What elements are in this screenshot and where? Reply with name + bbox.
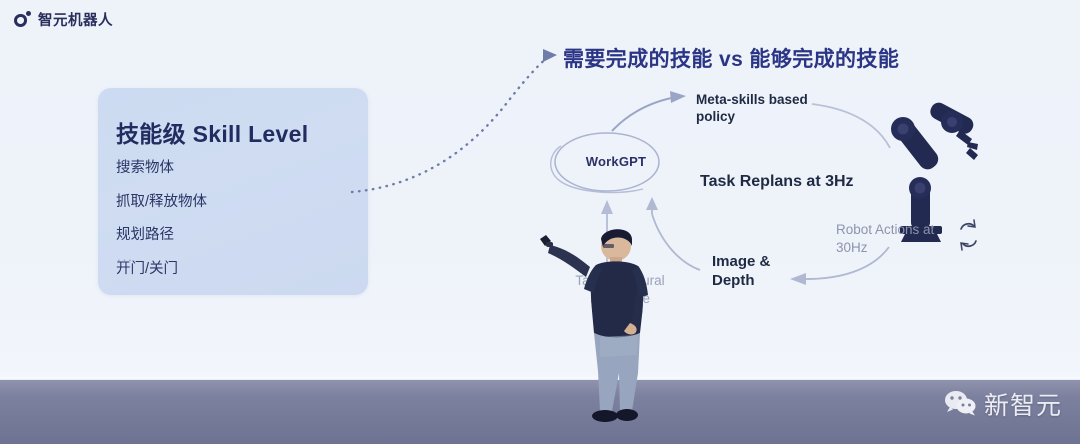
- dotted-arrow-icon: [352, 49, 557, 192]
- arrow-to-meta-policy: [612, 91, 686, 131]
- wechat-icon: [944, 390, 978, 418]
- arrow-into-workgpt-right: [646, 197, 658, 214]
- slide-stage: 智元机器人 技能级 Skill Level 搜索物体 抓取/释放物体 规划路径 …: [0, 0, 1080, 444]
- refresh-cycle-icon: [961, 220, 976, 250]
- watermark: 新智元: [944, 386, 1062, 422]
- label-task-replans: Task Replans at 3Hz: [700, 172, 854, 192]
- watermark-text: 新智元: [984, 386, 1062, 422]
- label-meta-skills-policy: Meta-skills based policy: [696, 91, 826, 126]
- label-robot-actions: Robot Actions at 30Hz: [836, 221, 956, 256]
- workgpt-node-label: WorkGPT: [576, 154, 656, 169]
- presenter-figure: [520, 215, 660, 430]
- label-image-depth: Image & Depth: [712, 252, 802, 290]
